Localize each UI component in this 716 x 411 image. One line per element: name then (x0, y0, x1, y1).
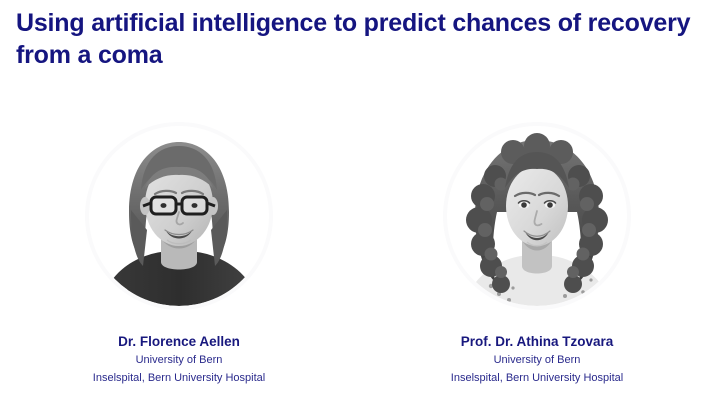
speaker-list: Dr. Florence Aellen University of Bern I… (0, 122, 716, 388)
portrait-florence-aellen (89, 126, 269, 306)
presentation-slide: Using artificial intelligence to predict… (0, 0, 716, 411)
speaker-affiliation-primary: University of Bern (0, 352, 358, 370)
speaker-affiliation-secondary: Inselspital, Bern University Hospital (358, 370, 716, 388)
avatar (85, 122, 273, 310)
portrait-athina-tzovara (447, 126, 627, 306)
speaker-affiliation-secondary: Inselspital, Bern University Hospital (0, 370, 358, 388)
speaker-caption: Dr. Florence Aellen University of Bern I… (0, 332, 358, 388)
speaker-card: Dr. Florence Aellen University of Bern I… (0, 122, 358, 388)
avatar (443, 122, 631, 310)
speaker-name: Dr. Florence Aellen (0, 332, 358, 352)
speaker-card: Prof. Dr. Athina Tzovara University of B… (358, 122, 716, 388)
page-title: Using artificial intelligence to predict… (16, 8, 704, 71)
speaker-name: Prof. Dr. Athina Tzovara (358, 332, 716, 352)
speaker-caption: Prof. Dr. Athina Tzovara University of B… (358, 332, 716, 388)
speaker-affiliation-primary: University of Bern (358, 352, 716, 370)
